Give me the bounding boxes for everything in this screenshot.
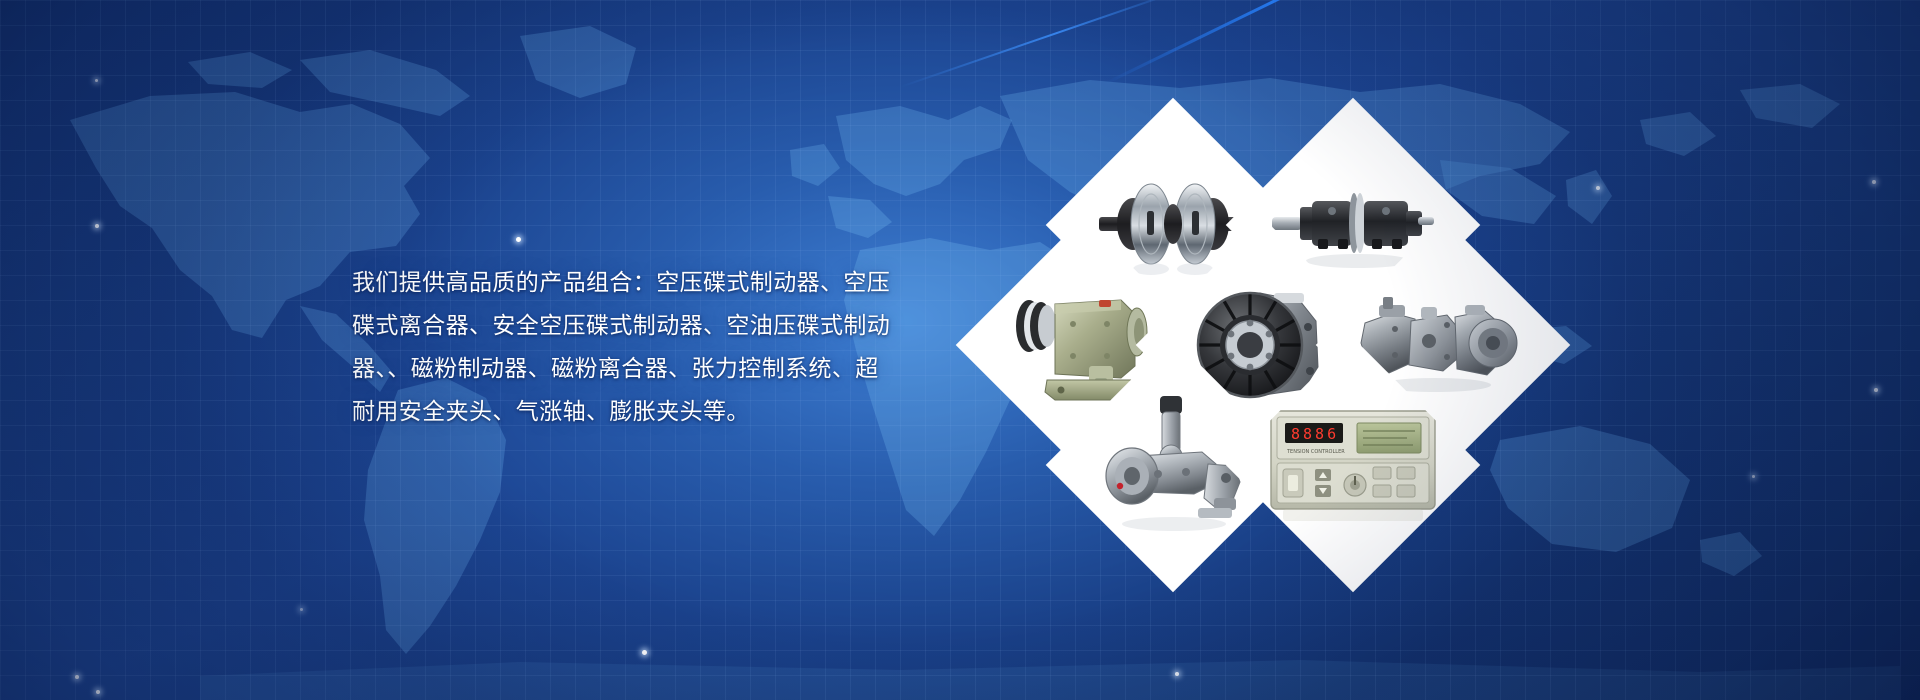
copy-line-2: 碟式离合器、安全空压碟式制动器、空油压碟式制动 xyxy=(352,305,952,348)
sparkle-dot xyxy=(95,79,98,82)
copy-line-4: 耐用安全夹头、气涨轴、膨胀夹头等。 xyxy=(352,391,952,434)
sparkle-dot xyxy=(300,608,303,611)
sparkle-dot xyxy=(1752,475,1755,478)
sparkle-dot xyxy=(96,690,100,694)
sparkle-dot xyxy=(1596,186,1600,190)
svg-text:8886: 8886 xyxy=(1291,425,1339,443)
svg-text:TENSION CONTROLLER: TENSION CONTROLLER xyxy=(1286,449,1345,455)
sparkle-dot xyxy=(1175,672,1179,676)
sparkle-dot xyxy=(1872,180,1876,184)
banner-copy: 我们提供高品质的产品组合：空压碟式制动器、空压 碟式离合器、安全空压碟式制动器、… xyxy=(352,262,952,434)
sparkle-dot xyxy=(516,237,521,242)
hero-banner: 我们提供高品质的产品组合：空压碟式制动器、空压 碟式离合器、安全空压碟式制动器、… xyxy=(0,0,1920,700)
copy-line-1: 我们提供高品质的产品组合：空压碟式制动器、空压 xyxy=(352,262,952,305)
product-diamond-grid: 8886 TENSION CONTROLLER xyxy=(1020,171,1540,531)
sparkle-dot xyxy=(95,224,99,228)
tension-controller-icon: 8886 TENSION CONTROLLER xyxy=(1267,405,1439,525)
sparkle-dot xyxy=(75,675,79,679)
copy-line-3: 器、、磁粉制动器、磁粉离合器、张力控制系统、超 xyxy=(352,348,952,391)
sparkle-dot xyxy=(1874,388,1878,392)
sparkle-dot xyxy=(642,650,647,655)
